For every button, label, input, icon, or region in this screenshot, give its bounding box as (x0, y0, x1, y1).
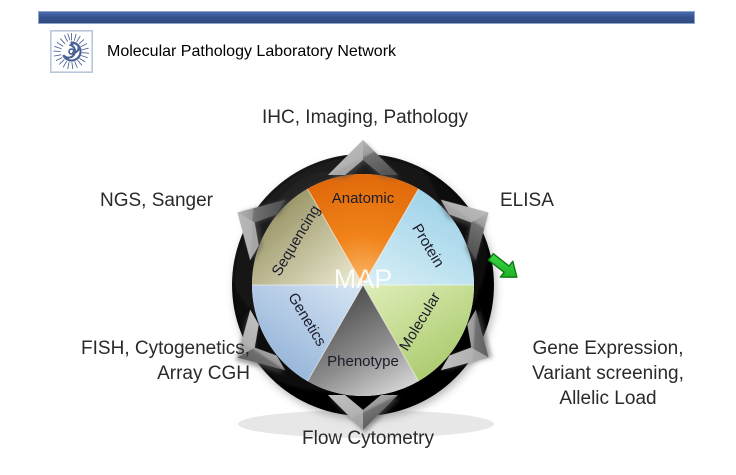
callout-label-gene-expression-variant-screening-allelic-load: Gene Expression, Variant screening, Alle… (492, 336, 724, 411)
callout-label-elisa: ELISA (500, 188, 640, 213)
callout-label-flow-cytometry: Flow Cytometry (263, 426, 473, 451)
wheel-center-label: MAP (334, 264, 393, 294)
segment-label-phenotype: Phenotype (327, 353, 399, 370)
callout-label-fish-cytogenetics-array-cgh: FISH, Cytogenetics, Array CGH (35, 336, 250, 386)
callout-label-ngs-sanger: NGS, Sanger (100, 188, 240, 213)
segment-label-anatomic: Anatomic (332, 190, 395, 207)
callout-label-ihc-imaging-pathology: IHC, Imaging, Pathology (255, 105, 475, 130)
